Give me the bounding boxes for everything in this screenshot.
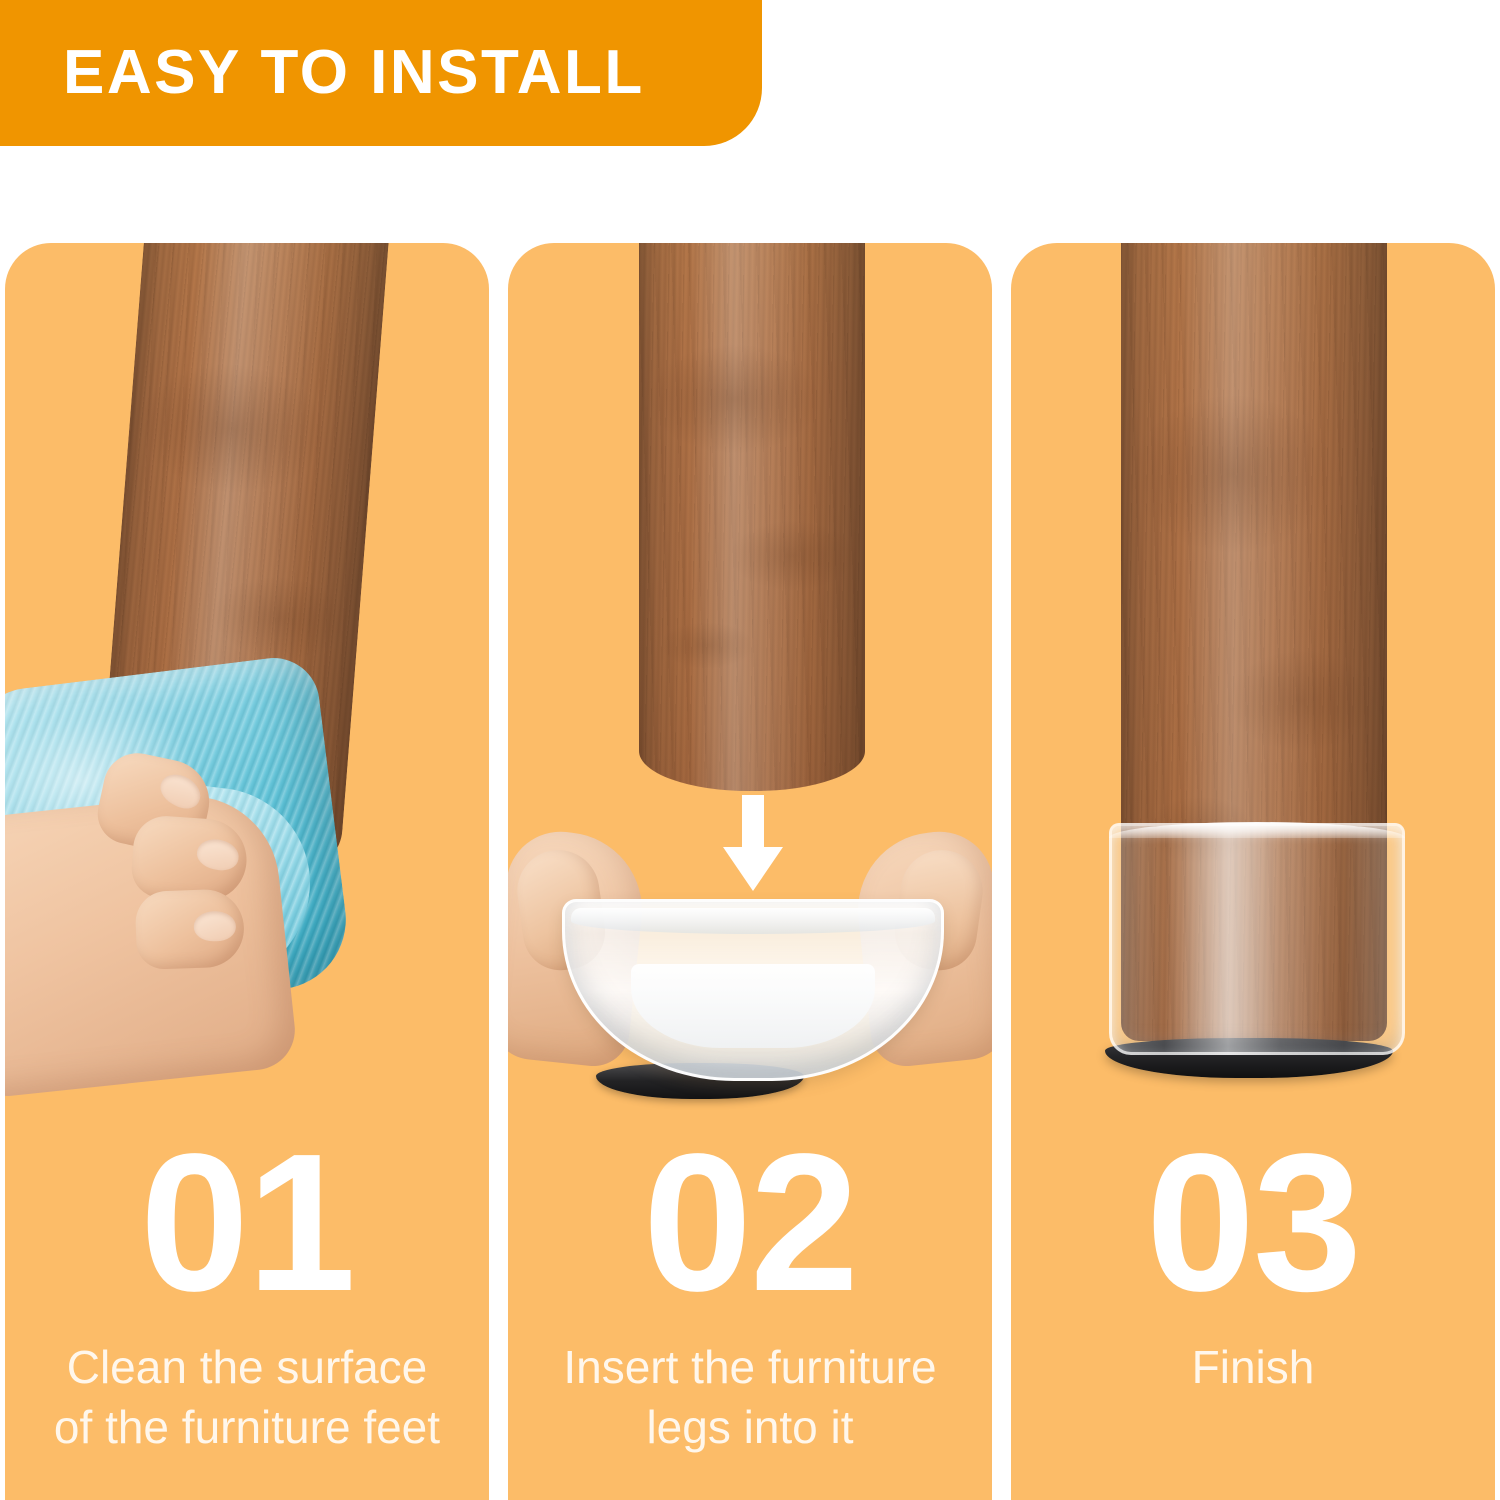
step-01-caption: 01 Clean the surface of the furniture fe… (5, 1123, 489, 1457)
step-description: Clean the surface of the furniture feet (5, 1337, 489, 1457)
step-03-illustration (1011, 243, 1495, 1123)
step-description: Insert the furniture legs into it (508, 1337, 992, 1457)
step-description-line-1: Clean the surface (31, 1337, 463, 1397)
header-banner: EASY TO INSTALL (0, 0, 762, 146)
step-number: 02 (508, 1123, 992, 1323)
step-number: 01 (5, 1123, 489, 1323)
furniture-leg-wood (639, 243, 865, 791)
step-card-01: 01 Clean the surface of the furniture fe… (5, 243, 489, 1500)
step-card-03: 03 Finish (1011, 243, 1495, 1500)
cap-rim (571, 908, 935, 934)
hand (5, 787, 299, 1099)
step-02-illustration (508, 243, 992, 1123)
finger (135, 888, 246, 970)
step-description-line-2: of the furniture feet (31, 1397, 463, 1457)
down-arrow-icon (721, 795, 785, 891)
fingernail (194, 911, 236, 941)
page-title: EASY TO INSTALL (63, 38, 645, 108)
step-description: Finish (1011, 1337, 1495, 1397)
step-card-02: 02 Insert the furniture legs into it (508, 243, 992, 1500)
step-description-line-1: Finish (1037, 1337, 1469, 1397)
fingernail (155, 768, 206, 815)
step-number: 03 (1011, 1123, 1495, 1323)
cap-inner-surface (631, 964, 875, 1048)
fingernail (194, 836, 241, 874)
step-03-caption: 03 Finish (1011, 1123, 1495, 1397)
step-description-line-1: Insert the furniture (534, 1337, 966, 1397)
cap-rim (1109, 822, 1405, 838)
installed-silicone-cap (1109, 823, 1405, 1055)
step-02-caption: 02 Insert the furniture legs into it (508, 1123, 992, 1457)
step-description-line-2: legs into it (534, 1397, 966, 1457)
step-01-illustration (5, 243, 489, 1123)
